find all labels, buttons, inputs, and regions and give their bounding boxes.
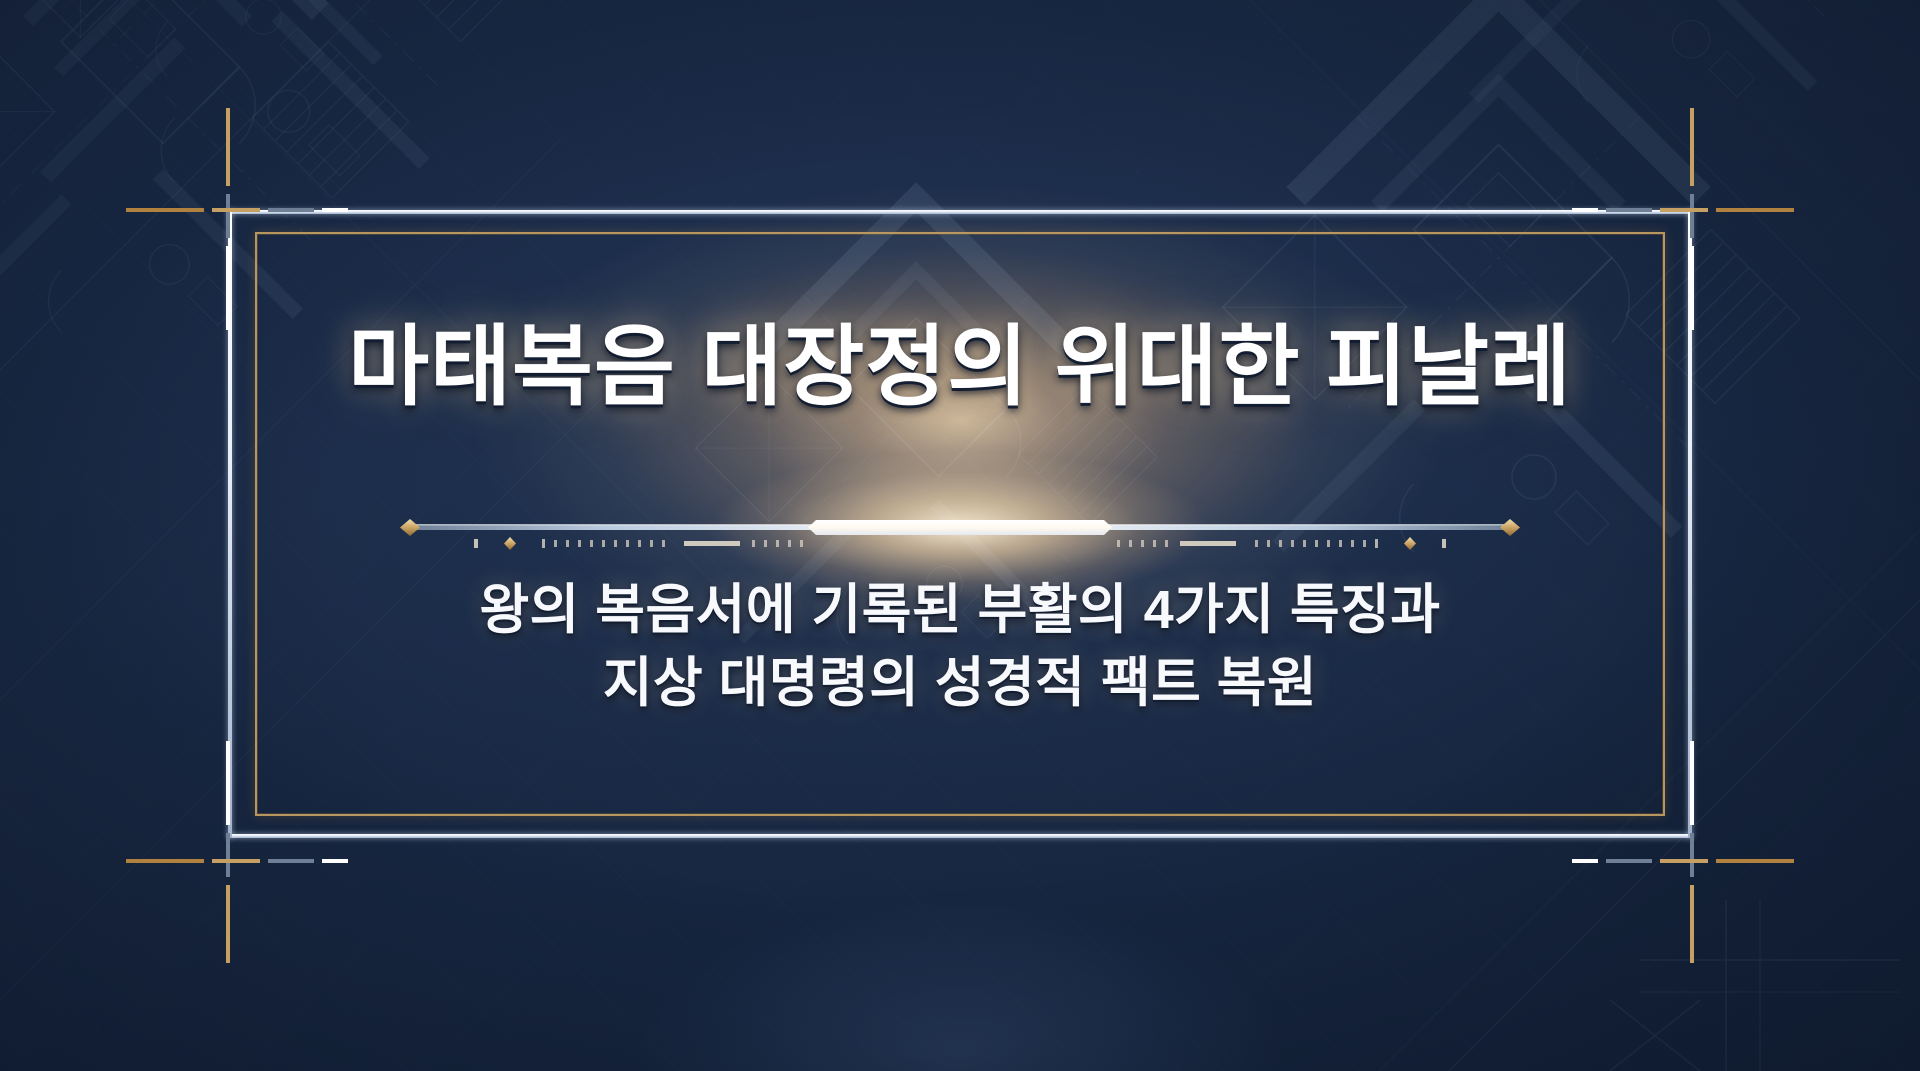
outer-silver-frame (228, 210, 1692, 838)
title-slide-stage: 마태복음 대장정의 위대한 피날레 (0, 0, 1920, 1071)
inner-gold-frame (255, 232, 1665, 816)
edge-vignette (0, 0, 1920, 1071)
subtitle-line-2: 지상 대명령의 성경적 팩트 복원 (0, 647, 1920, 720)
center-gold-glow (320, 110, 1600, 730)
registration-mark-top-right-icon (1572, 90, 1812, 330)
ornamental-divider (380, 498, 1540, 558)
registration-mark-bottom-left-icon (108, 741, 348, 981)
registration-mark-top-left-icon (108, 90, 348, 330)
subtitle-line-1: 왕의 복음서에 기록된 부활의 4가지 특징과 (0, 574, 1920, 647)
subtitle-block: 왕의 복음서에 기록된 부활의 4가지 특징과 지상 대명령의 성경적 팩트 복… (0, 574, 1920, 720)
registration-mark-bottom-right-icon (1572, 741, 1812, 981)
bottom-ambient-glow (510, 841, 1410, 1071)
blueprint-background (0, 0, 1920, 1071)
frame-line-right (1688, 210, 1692, 838)
center-gold-glow-core (650, 432, 1270, 622)
frame-line-top (228, 210, 1692, 214)
blueprint-hatch-overlay (0, 0, 1920, 1071)
title-block: 마태복음 대장정의 위대한 피날레 (0, 296, 1920, 423)
frame-line-bottom (228, 834, 1692, 838)
slide-title: 마태복음 대장정의 위대한 피날레 (348, 296, 1572, 423)
frame-line-left (228, 210, 232, 838)
